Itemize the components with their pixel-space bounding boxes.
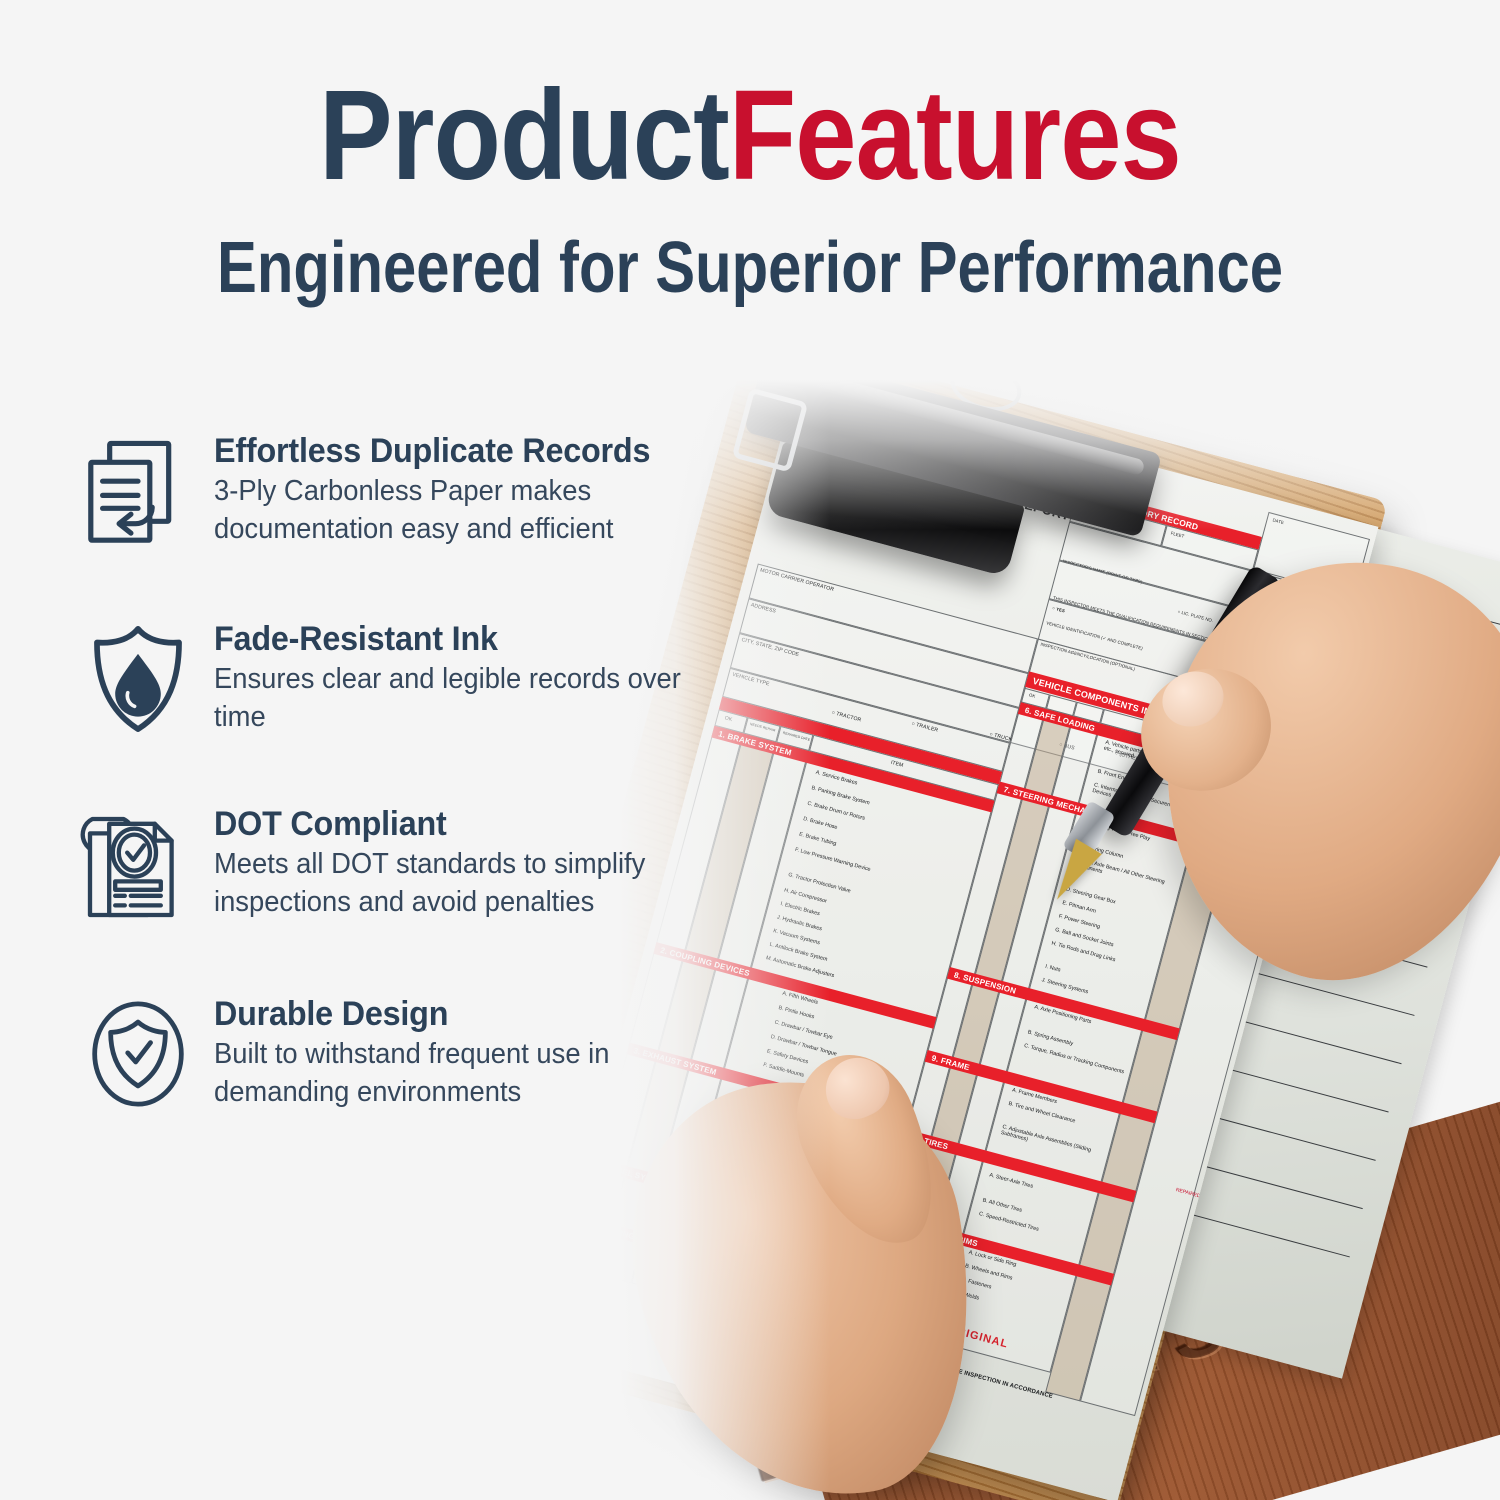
feature-title: Fade-Resistant Ink: [214, 620, 699, 658]
page-title-part1: Product: [319, 64, 729, 207]
feature-title: Effortless Duplicate Records: [214, 432, 699, 470]
feature-text: Durable Design Built to withstand freque…: [214, 993, 724, 1112]
circle-shield-check-icon: [62, 993, 214, 1111]
feature-title: DOT Compliant: [214, 805, 699, 843]
headings-block: ProductFeatures Engineered for Superior …: [0, 0, 1500, 304]
feature-text: Fade-Resistant Ink Ensures clear and leg…: [214, 618, 724, 737]
page-title: ProductFeatures: [105, 0, 1395, 200]
page-subtitle: Engineered for Superior Performance: [128, 200, 1373, 304]
feature-item: DOT Compliant Meets all DOT standards to…: [62, 803, 762, 927]
feature-description: 3-Ply Carbonless Paper makes documentati…: [214, 473, 704, 549]
feature-title: Durable Design: [214, 995, 699, 1033]
page-title-part2: Features: [729, 64, 1181, 207]
feature-item: Durable Design Built to withstand freque…: [62, 993, 762, 1112]
feature-item: Fade-Resistant Ink Ensures clear and leg…: [62, 618, 762, 737]
feature-description: Built to withstand frequent use in deman…: [214, 1036, 704, 1112]
duplicate-documents-icon: [62, 430, 214, 552]
feature-description: Ensures clear and legible records over t…: [214, 661, 704, 737]
shield-ink-drop-icon: [62, 618, 214, 736]
document-shield-check-icon: [62, 803, 214, 927]
feature-text: DOT Compliant Meets all DOT standards to…: [214, 803, 724, 922]
feature-list: Effortless Duplicate Records 3-Ply Carbo…: [62, 430, 762, 1178]
feature-text: Effortless Duplicate Records 3-Ply Carbo…: [214, 430, 724, 549]
feature-item: Effortless Duplicate Records 3-Ply Carbo…: [62, 430, 762, 552]
feature-description: Meets all DOT standards to simplify insp…: [214, 846, 704, 922]
